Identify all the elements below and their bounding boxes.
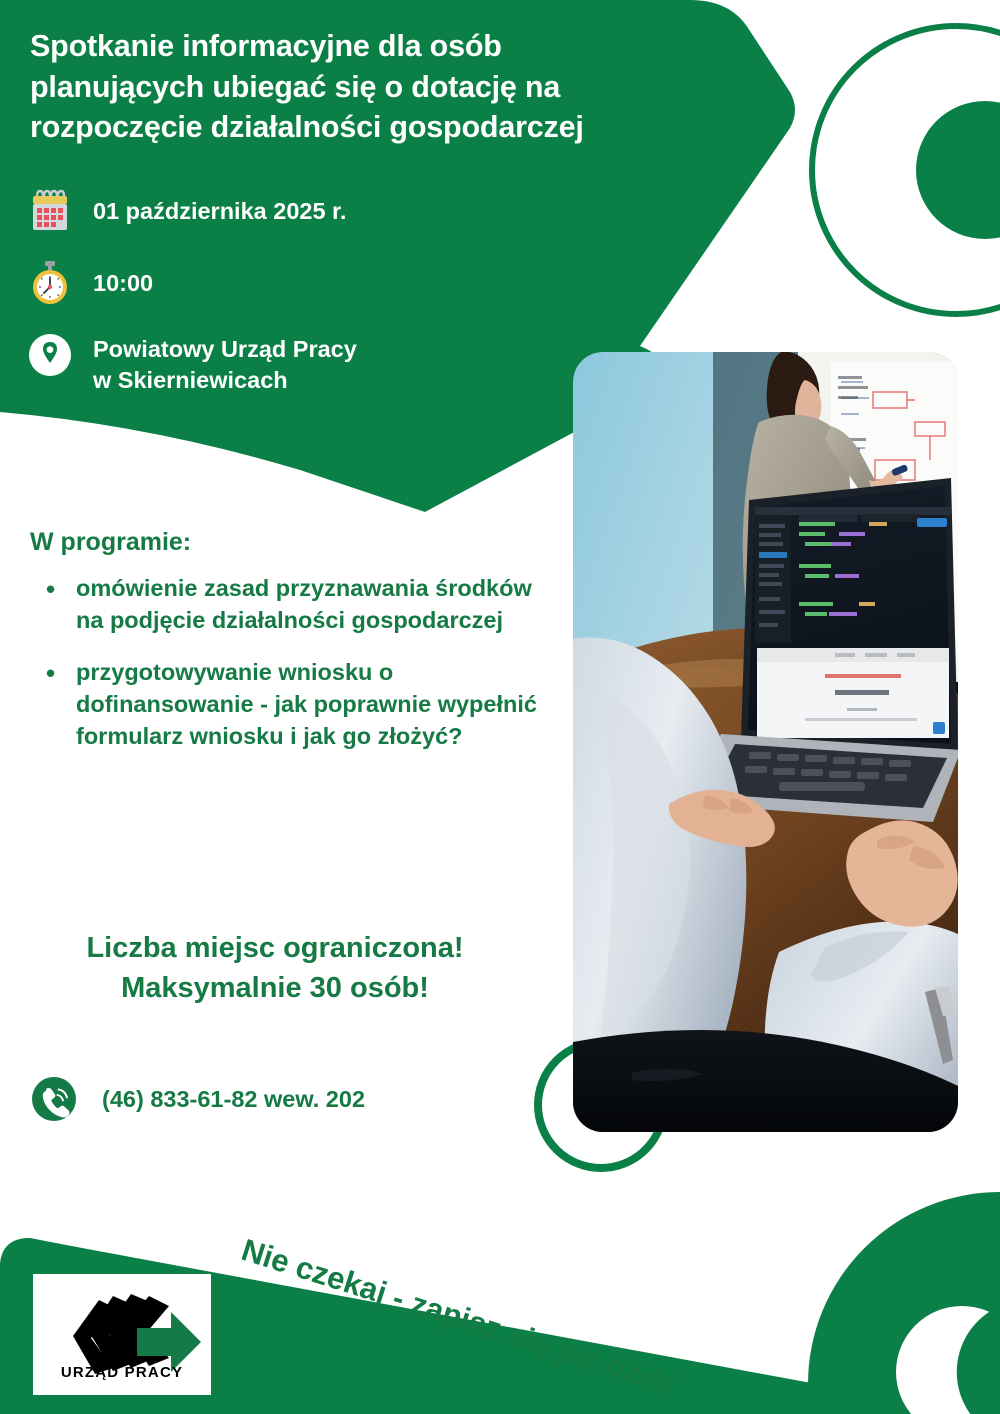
top-right-ring — [812, 26, 1000, 314]
event-date-row: 01 października 2025 r. — [26, 186, 546, 236]
logo-graphic: URZĄD PRACY — [33, 1274, 211, 1395]
calendar-icon — [26, 186, 74, 236]
meeting-photo — [573, 352, 958, 1132]
stopwatch-icon — [26, 258, 74, 308]
event-place-line1: Powiatowy Urząd Pracy — [93, 336, 357, 362]
event-place: Powiatowy Urząd Pracy w Skierniewicach — [74, 330, 357, 396]
list-item: omówienie zasad przyznawania środków na … — [46, 573, 550, 637]
contact-phone-number[interactable]: (46) 833-61-82 wew. 202 — [80, 1086, 365, 1113]
event-place-line2: w Skierniewicach — [93, 367, 288, 393]
footer-slogan: Nie czekaj - zapisz się już dziś! — [237, 1232, 680, 1403]
map-pin-icon — [26, 330, 74, 380]
top-right-dot — [916, 101, 1000, 239]
page-title: Spotkanie informacyjne dla osób planując… — [30, 26, 670, 148]
bottom-right-donut — [808, 1192, 1000, 1414]
limited-places-line1: Liczba miejsc ograniczona! — [30, 928, 520, 968]
event-time: 10:00 — [74, 258, 153, 299]
program-list: omówienie zasad przyznawania środków na … — [30, 573, 550, 753]
program-heading: W programie: — [30, 528, 550, 557]
limited-places-line2: Maksymalnie 30 osób! — [30, 968, 520, 1008]
event-place-row: Powiatowy Urząd Pracy w Skierniewicach — [26, 330, 546, 396]
limited-places-notice: Liczba miejsc ograniczona! Maksymalnie 3… — [30, 928, 520, 1008]
event-date: 01 października 2025 r. — [74, 186, 346, 227]
urzad-pracy-logo: URZĄD PRACY — [33, 1274, 211, 1395]
bottom-right-donut-tail — [957, 1306, 1000, 1414]
photo-illustration — [573, 352, 958, 1132]
list-item: przygotowywanie wniosku o dofinansowanie… — [46, 657, 550, 753]
poster-root: Spotkanie informacyjne dla osób planując… — [0, 0, 1000, 1414]
page-title-block: Spotkanie informacyjne dla osób planując… — [30, 26, 670, 148]
bottom-right-donut-hole — [896, 1306, 1000, 1414]
event-time-row: 10:00 — [26, 258, 546, 308]
logo-caption: URZĄD PRACY — [61, 1364, 183, 1381]
contact-phone-row[interactable]: (46) 833-61-82 wew. 202 — [28, 1073, 365, 1125]
event-meta: 01 października 2025 r. 10 — [26, 186, 546, 418]
program-section: W programie: omówienie zasad przyznawani… — [30, 528, 550, 773]
phone-icon — [28, 1073, 80, 1125]
